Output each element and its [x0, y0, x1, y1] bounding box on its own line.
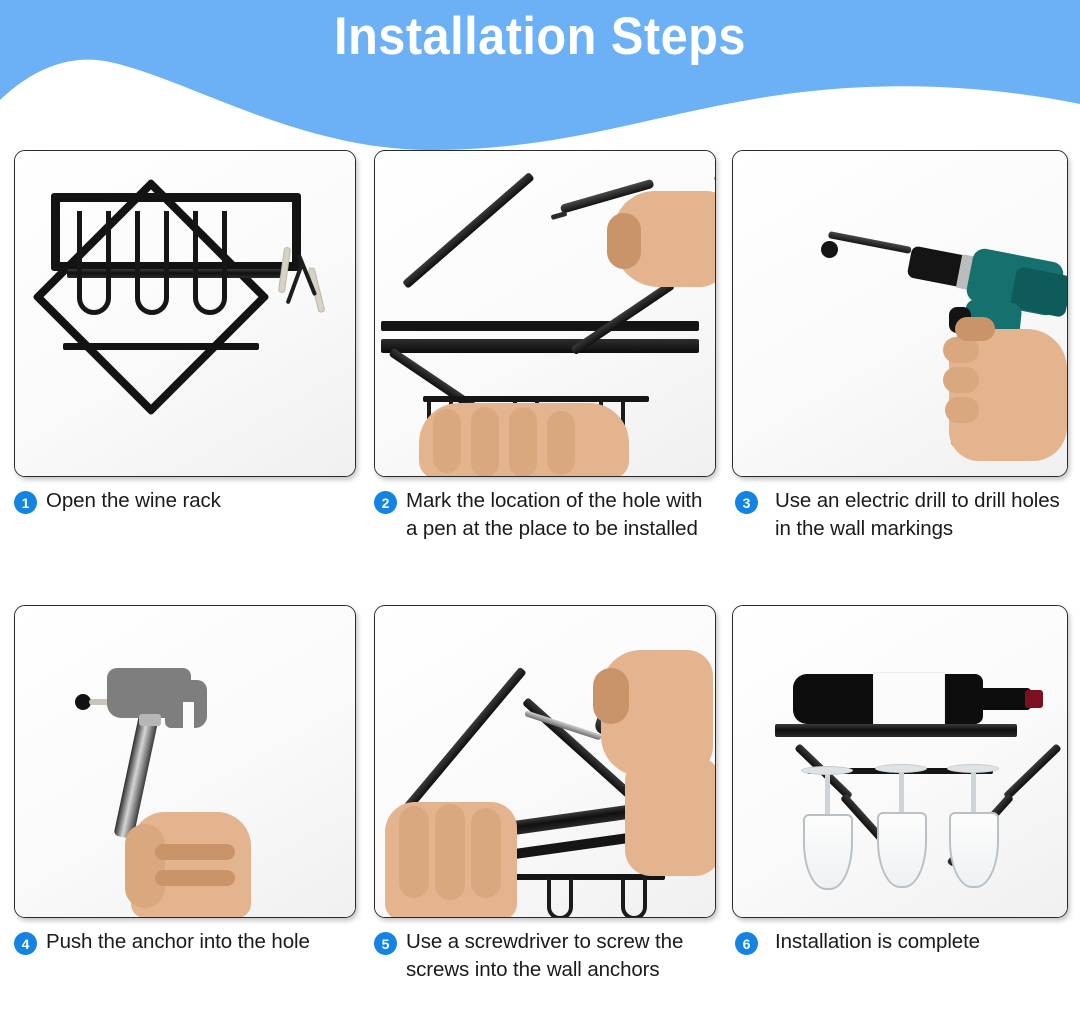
- step-3-photo: [732, 150, 1068, 477]
- step-badge-3: 3: [735, 491, 758, 514]
- header-banner: Installation Steps: [0, 0, 1080, 150]
- step-4-text: Push the anchor into the hole: [46, 928, 310, 956]
- step-6-caption: 6 Installation is complete: [732, 918, 1068, 956]
- step-card-5: 5 Use a screwdriver to screw the screws …: [374, 605, 716, 985]
- step-badge-1: 1: [14, 491, 37, 514]
- step-card-4: 4 Push the anchor into the hole: [14, 605, 356, 956]
- step-badge-6: 6: [735, 932, 758, 955]
- step-badge-5: 5: [374, 932, 397, 955]
- step-1-caption: 1 Open the wine rack: [14, 477, 356, 515]
- step-2-caption: 2 Mark the location of the hole with a p…: [374, 477, 716, 544]
- step-4-caption: 4 Push the anchor into the hole: [14, 918, 356, 956]
- step-1-text: Open the wine rack: [46, 487, 221, 515]
- step-card-1: 1 Open the wine rack: [14, 150, 356, 515]
- step-card-3: 3 Use an electric drill to drill holes i…: [732, 150, 1068, 544]
- step-badge-4: 4: [14, 932, 37, 955]
- step-card-2: 2 Mark the location of the hole with a p…: [374, 150, 716, 544]
- infographic-page: Installation Steps: [0, 0, 1080, 1027]
- glass-hook: [193, 211, 227, 315]
- steps-row-2: 4 Push the anchor into the hole: [0, 605, 1080, 1025]
- step-5-photo: [374, 605, 716, 918]
- page-title: Installation Steps: [43, 6, 1037, 67]
- steps-grid: 1 Open the wine rack: [0, 150, 1080, 1025]
- step-4-photo: [14, 605, 356, 918]
- step-2-photo: [374, 150, 716, 477]
- steps-row-1: 1 Open the wine rack: [0, 150, 1080, 605]
- glass-hook: [77, 211, 111, 315]
- screws-and-anchors: [279, 247, 341, 313]
- bottle-label: [873, 672, 945, 728]
- step-3-caption: 3 Use an electric drill to drill holes i…: [732, 477, 1068, 544]
- step-1-photo: [14, 150, 356, 477]
- step-badge-2: 2: [374, 491, 397, 514]
- glass-hook: [135, 211, 169, 315]
- step-5-text: Use a screwdriver to screw the screws in…: [406, 928, 716, 985]
- step-6-text: Installation is complete: [775, 928, 980, 956]
- step-card-6: 6 Installation is complete: [732, 605, 1068, 956]
- step-5-caption: 5 Use a screwdriver to screw the screws …: [374, 918, 716, 985]
- step-6-photo: [732, 605, 1068, 918]
- step-2-text: Mark the location of the hole with a pen…: [406, 487, 716, 544]
- step-3-text: Use an electric drill to drill holes in …: [775, 487, 1068, 544]
